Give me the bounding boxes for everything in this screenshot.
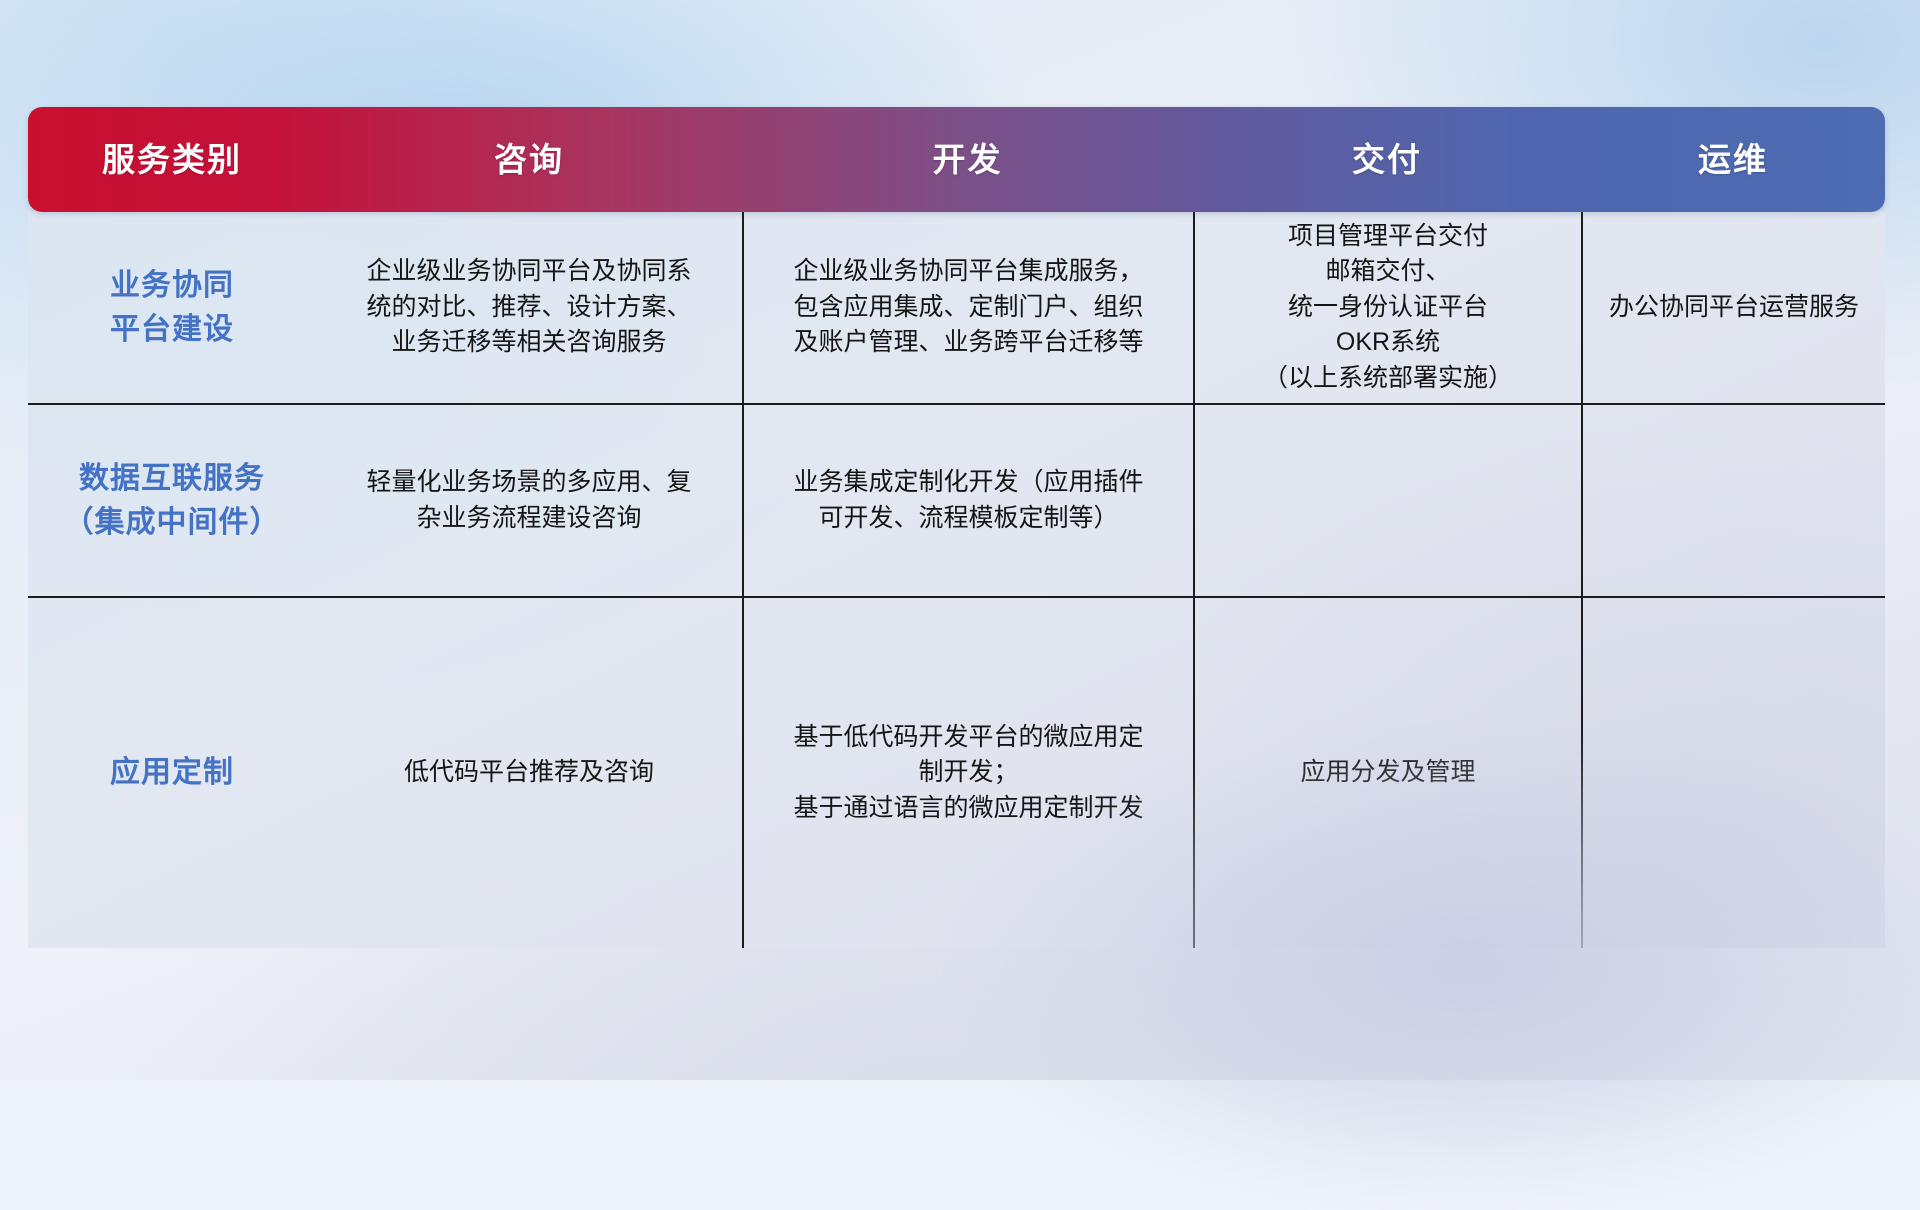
row-label-app-customization: 应用定制 — [28, 598, 316, 948]
table-row: 数据互联服务 （集成中间件） 轻量化业务场景的多应用、复 杂业务流程建设咨询 业… — [28, 405, 1885, 598]
cell-development-row2: 业务集成定制化开发（应用插件 可开发、流程模板定制等） — [742, 405, 1193, 596]
slide-canvas: 服务类别 咨询 开发 交付 运维 业务协同 平台建设 企业级业务协同平台及协同系… — [0, 0, 1920, 1080]
cell-consulting-row3: 低代码平台推荐及咨询 — [316, 598, 742, 948]
row-label-business-collaboration: 业务协同 平台建设 — [28, 212, 316, 403]
cell-development-row1: 企业级业务协同平台集成服务， 包含应用集成、定制门户、组织 及账户管理、业务跨平… — [742, 212, 1193, 403]
header-delivery: 交付 — [1193, 143, 1581, 176]
cell-consulting-row2: 轻量化业务场景的多应用、复 杂业务流程建设咨询 — [316, 405, 742, 596]
cell-delivery-row1: 项目管理平台交付 邮箱交付、 统一身份认证平台 OKR系统 （以上系统部署实施） — [1193, 212, 1581, 403]
cell-delivery-row2 — [1193, 405, 1581, 596]
cell-operations-row3 — [1581, 598, 1885, 948]
cell-development-row3: 基于低代码开发平台的微应用定 制开发； 基于通过语言的微应用定制开发 — [742, 598, 1193, 948]
cell-consulting-row1: 企业级业务协同平台及协同系 统的对比、推荐、设计方案、 业务迁移等相关咨询服务 — [316, 212, 742, 403]
header-service-category: 服务类别 — [28, 143, 316, 176]
header-operations: 运维 — [1581, 143, 1885, 176]
cell-delivery-row3: 应用分发及管理 — [1193, 598, 1581, 948]
cell-operations-row1: 办公协同平台运营服务 — [1581, 212, 1885, 403]
table-body: 业务协同 平台建设 企业级业务协同平台及协同系 统的对比、推荐、设计方案、 业务… — [28, 212, 1885, 948]
row-label-data-interconnect: 数据互联服务 （集成中间件） — [28, 405, 316, 596]
service-matrix-table: 服务类别 咨询 开发 交付 运维 业务协同 平台建设 企业级业务协同平台及协同系… — [28, 107, 1885, 948]
cell-operations-row2 — [1581, 405, 1885, 596]
header-consulting: 咨询 — [316, 143, 742, 176]
header-development: 开发 — [742, 143, 1193, 176]
table-header-row: 服务类别 咨询 开发 交付 运维 — [28, 107, 1885, 212]
table-row: 应用定制 低代码平台推荐及咨询 基于低代码开发平台的微应用定 制开发； 基于通过… — [28, 598, 1885, 948]
table-row: 业务协同 平台建设 企业级业务协同平台及协同系 统的对比、推荐、设计方案、 业务… — [28, 212, 1885, 405]
